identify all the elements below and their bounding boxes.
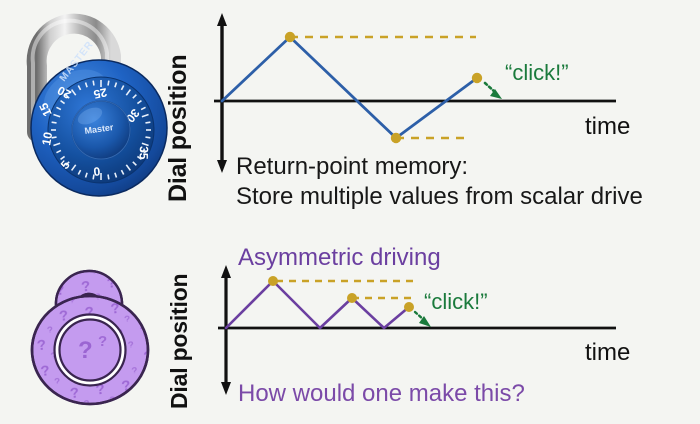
chart-top-ylabel: Dial position (164, 32, 192, 202)
blue-padlock-photo: MASTER (6, 4, 176, 202)
chart-top-marker-max (285, 32, 295, 42)
chart-bottom-click-label: “click!” (424, 289, 488, 315)
caption-return-point-memory: Return-point memory: Store multiple valu… (236, 152, 700, 212)
chart-bottom-xlabel: time (585, 339, 630, 367)
yaxis-arrow-down (217, 160, 227, 173)
svg-text:10: 10 (39, 131, 55, 147)
chart-bottom-trajectory (226, 281, 409, 328)
yaxis-arrow-down-2 (221, 382, 231, 395)
svg-text:?: ? (98, 333, 107, 350)
chart-bottom-marker-2 (347, 293, 357, 303)
chart-top-marker-min (391, 133, 401, 143)
yaxis-arrow-up (217, 13, 227, 26)
yaxis-arrow-up-2 (221, 265, 231, 278)
svg-text:35: 35 (137, 146, 151, 160)
chart-top-marker-click (472, 73, 482, 83)
caption-question: How would one make this? (238, 380, 525, 408)
chart-top-click-label: “click!” (505, 60, 569, 86)
chart-top-xlabel: time (585, 113, 630, 141)
chart-top-trajectory (222, 37, 477, 138)
chart-bottom-marker-click (404, 302, 414, 312)
mystery-lock-question-glyph: ? (78, 337, 93, 364)
slide-canvas: MASTER (0, 0, 700, 424)
purple-mystery-padlock: ? ? (18, 232, 183, 412)
chart-bottom-ylabel: Dial position (166, 266, 192, 409)
chart-bottom-marker-1 (268, 276, 278, 286)
chart-bottom-heading: Asymmetric driving (238, 244, 441, 272)
chart-top-click-arrowhead (490, 89, 502, 99)
